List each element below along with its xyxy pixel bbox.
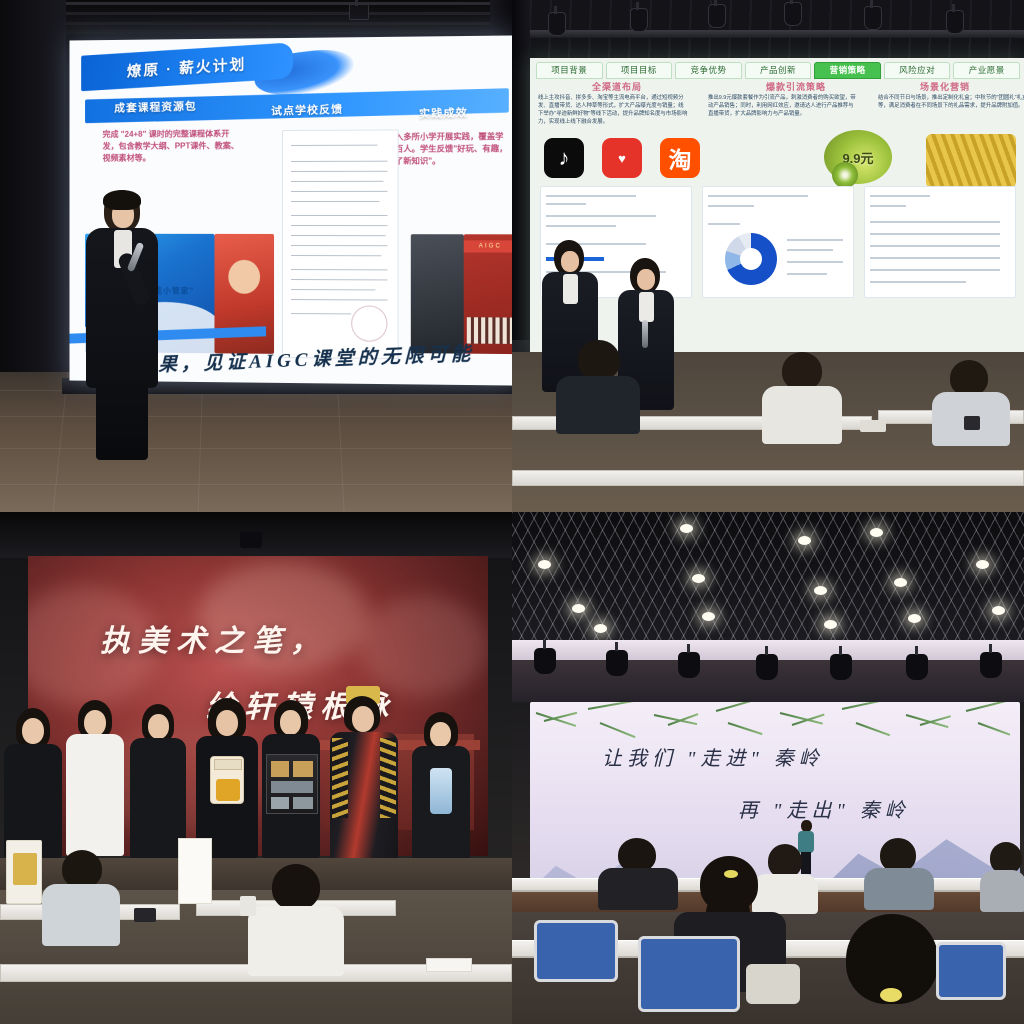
- smartphone: [134, 908, 156, 922]
- ceiling-projector: [240, 532, 262, 548]
- slide-tab-results: 实践成效: [419, 104, 468, 121]
- audience-member: [762, 352, 842, 438]
- projector: [349, 4, 369, 20]
- kiwi-fruit-graphic: [832, 162, 858, 188]
- slide-tab-course-package: 成套课程资源包: [114, 98, 196, 116]
- slide-paragraph-scenario-marketing: 结合不同节日与场景，推出定制化礼盒；中秋节的"团圆礼"礼盒等，满足消费者在不同场…: [878, 94, 1024, 110]
- stage-spotlight: [906, 654, 928, 680]
- student-2: [66, 700, 124, 858]
- audience-head: [880, 838, 916, 872]
- slide-heading-scenario-marketing: 场景化营销: [920, 80, 970, 93]
- stage-spotlight: [830, 654, 852, 680]
- audience-head: [950, 360, 988, 396]
- paper-tote-bag: [6, 840, 42, 904]
- audience-member: [598, 838, 678, 898]
- student-4: [196, 698, 258, 858]
- microphone: [642, 320, 648, 348]
- audience-member: [556, 340, 640, 430]
- panel-top-left: 燎原 · 薪火计划 成套课程资源包 试点学校反馈 实践成效 完成 "24+8" …: [0, 0, 512, 512]
- dashboard-panel-table: [864, 186, 1016, 298]
- slide-title-line2: 再 "走出" 秦岭: [738, 794, 910, 823]
- presenter-legs: [96, 380, 148, 460]
- student-1: [4, 708, 62, 858]
- slide-tab-bar: 项目背景 项目目标 竞争优势 产品创新 营销策略 风险应对 产业愿景: [536, 62, 1020, 79]
- donut-chart: [725, 233, 777, 285]
- paper-document: [426, 958, 472, 972]
- panel-top-right: 项目背景 项目目标 竞争优势 产品创新 营销策略 风险应对 产业愿景 全渠道布局…: [512, 0, 1024, 512]
- audience-torso: [980, 870, 1024, 912]
- slide-heading-hit-product: 爆款引流策略: [766, 80, 826, 93]
- slide-title-line1: 让我们 "走进" 秦岭: [602, 742, 824, 771]
- left-wall: [0, 0, 66, 430]
- stage-light: [708, 4, 726, 28]
- ceiling-beam: [0, 12, 512, 15]
- stage-light: [630, 8, 648, 32]
- audience-torso: [762, 386, 842, 444]
- student-head: [148, 714, 169, 739]
- stage-light: [946, 10, 964, 34]
- audience-desk: [512, 470, 1024, 486]
- stage-light: [548, 12, 566, 36]
- audience-member: [980, 842, 1024, 900]
- auditorium-chair: [936, 942, 1006, 1000]
- slide-title-line1: 执美术之笔，: [100, 616, 328, 660]
- ceiling: [0, 0, 512, 34]
- audience-torso: [248, 906, 344, 976]
- student-head: [280, 710, 301, 735]
- audience-head: [618, 838, 656, 872]
- auditorium-chair: [534, 920, 618, 982]
- audience-torso: [42, 884, 120, 946]
- slide-banner-title: 燎原 · 薪火计划: [127, 53, 247, 81]
- auditorium-chair: [638, 936, 740, 1012]
- ceiling-downlight: [894, 578, 907, 587]
- smartphone: [964, 416, 980, 430]
- metal-mesh-ceiling: [512, 512, 1024, 642]
- han-costume-trim: [380, 738, 396, 818]
- exhibit-poster-board-prop: [266, 754, 318, 814]
- bamboo-decoration: [530, 702, 1020, 736]
- ceiling-beam: [0, 22, 512, 25]
- presenter-shirt: [563, 274, 578, 304]
- panel-bottom-left: 执美术之笔， 绘轩辕根脉: [0, 512, 512, 1024]
- ceiling-downlight: [976, 560, 989, 569]
- student-body: [66, 734, 124, 856]
- plush-figurine-prop: [210, 756, 244, 804]
- student-head: [352, 706, 374, 732]
- ceiling-downlight: [680, 524, 693, 533]
- student-7: [412, 712, 470, 860]
- slide-heading-omnichannel: 全渠道布局: [592, 80, 642, 93]
- plush-robe: [216, 779, 240, 801]
- taobao-icon: 淘: [660, 138, 700, 178]
- slide-tab-school-feedback: 试点学校反馈: [271, 101, 343, 119]
- slide-photo-feedback-letter: [282, 129, 399, 359]
- paper-document: [860, 420, 886, 432]
- panel-bottom-right: 让我们 "走进" 秦岭 再 "走出" 秦岭: [512, 512, 1024, 1024]
- dashboard-panel-donut: [702, 186, 854, 298]
- slide-paragraph-omnichannel: 线上主攻抖音、拼多多、淘宝等主流电商平台，通过短视频分发、直播带货、达人种草等形…: [538, 94, 688, 126]
- presenter-hair: [103, 190, 141, 210]
- photo-collage-grid: 燎原 · 薪火计划 成套课程资源包 试点学校反馈 实践成效 完成 "24+8" …: [0, 0, 1024, 1024]
- tote-bag-graphic: [13, 853, 37, 885]
- presenter-person: [86, 190, 158, 460]
- stage-spotlight: [606, 650, 628, 676]
- platform-icon-row: ♪ ♥ 淘: [544, 138, 700, 178]
- paper-cup: [240, 896, 256, 916]
- student-5: [262, 700, 320, 858]
- plush-hat: [214, 759, 242, 770]
- presentation-screen: 项目背景 项目目标 竞争优势 产品创新 营销策略 风险应对 产业愿景 全渠道布局…: [530, 58, 1024, 356]
- slide-photo-banner-text: AIGC: [464, 240, 512, 252]
- slide-tab-competitive-advantage: 竞争优势: [675, 62, 742, 79]
- audience-head: [62, 850, 102, 888]
- slide-tab-project-goals: 项目目标: [606, 62, 673, 79]
- douyin-icon: ♪: [544, 138, 584, 178]
- han-costume-trim: [332, 738, 348, 818]
- smoke-effect: [358, 596, 488, 696]
- slide-tab-industry-vision: 产业愿景: [953, 62, 1020, 79]
- ceiling-downlight: [908, 614, 921, 623]
- ceiling-downlight: [814, 586, 827, 595]
- ceiling-downlight: [870, 528, 883, 537]
- audience-head: [782, 352, 822, 390]
- student-head: [84, 710, 106, 736]
- presenter-face: [561, 251, 579, 272]
- ceiling-downlight: [992, 606, 1005, 615]
- audience-torso: [556, 376, 640, 434]
- stage-spotlight: [980, 652, 1002, 678]
- slide-tab-marketing-strategy: 营销策略: [814, 62, 881, 79]
- presenter-shirt: [639, 292, 654, 322]
- slide-text-course-package: 完成 "24+8" 课时的完整课程体系开发，包含教学大纲、PPT课件、教案、视频…: [103, 128, 241, 164]
- stage-spotlight: [678, 652, 700, 678]
- slide-paragraph-hit-product: 推出9.9元爆款套餐作为引流产品，刺激消费者的购买欲望，带动产品销售；同时，利用…: [708, 94, 858, 118]
- audience-head: [272, 864, 320, 910]
- ceiling-downlight: [702, 612, 715, 621]
- slide-tab-product-innovation: 产品创新: [745, 62, 812, 79]
- audience-member: [42, 850, 120, 946]
- ceiling-downlight: [572, 604, 585, 613]
- jacket-on-chair: [746, 964, 800, 1004]
- stage-spotlight: [534, 648, 556, 674]
- stage-light: [784, 2, 802, 26]
- student-head: [22, 718, 44, 744]
- audience-torso: [598, 868, 678, 910]
- produce-photo: [926, 134, 1016, 188]
- hair-tie: [880, 988, 902, 1002]
- hair-tie: [724, 870, 738, 878]
- ceiling-downlight: [594, 624, 607, 633]
- student-6-costume: [330, 690, 398, 860]
- ceiling-downlight: [824, 620, 837, 629]
- slide-tab-risk-response: 风险应对: [884, 62, 951, 79]
- audience-member: [864, 838, 934, 898]
- audience-head: [578, 340, 620, 380]
- stage-spotlight: [756, 654, 778, 680]
- student-head: [216, 710, 238, 736]
- audience-torso: [864, 868, 934, 910]
- ceiling-downlight: [538, 560, 551, 569]
- ceiling-downlight: [798, 536, 811, 545]
- ceramic-figure-prop: [430, 768, 452, 814]
- ceiling-downlight: [692, 574, 705, 583]
- paper-tote-bag: [178, 838, 212, 904]
- student-3: [130, 704, 186, 858]
- presenter-face: [637, 269, 655, 290]
- xiaohongshu-icon: ♥: [602, 138, 642, 178]
- audience-member: [248, 864, 344, 972]
- ceiling-beam: [0, 2, 512, 5]
- left-wall: [512, 0, 530, 340]
- student-head: [430, 722, 451, 747]
- stage-light: [864, 6, 882, 30]
- slide-tab-project-background: 项目背景: [536, 62, 603, 79]
